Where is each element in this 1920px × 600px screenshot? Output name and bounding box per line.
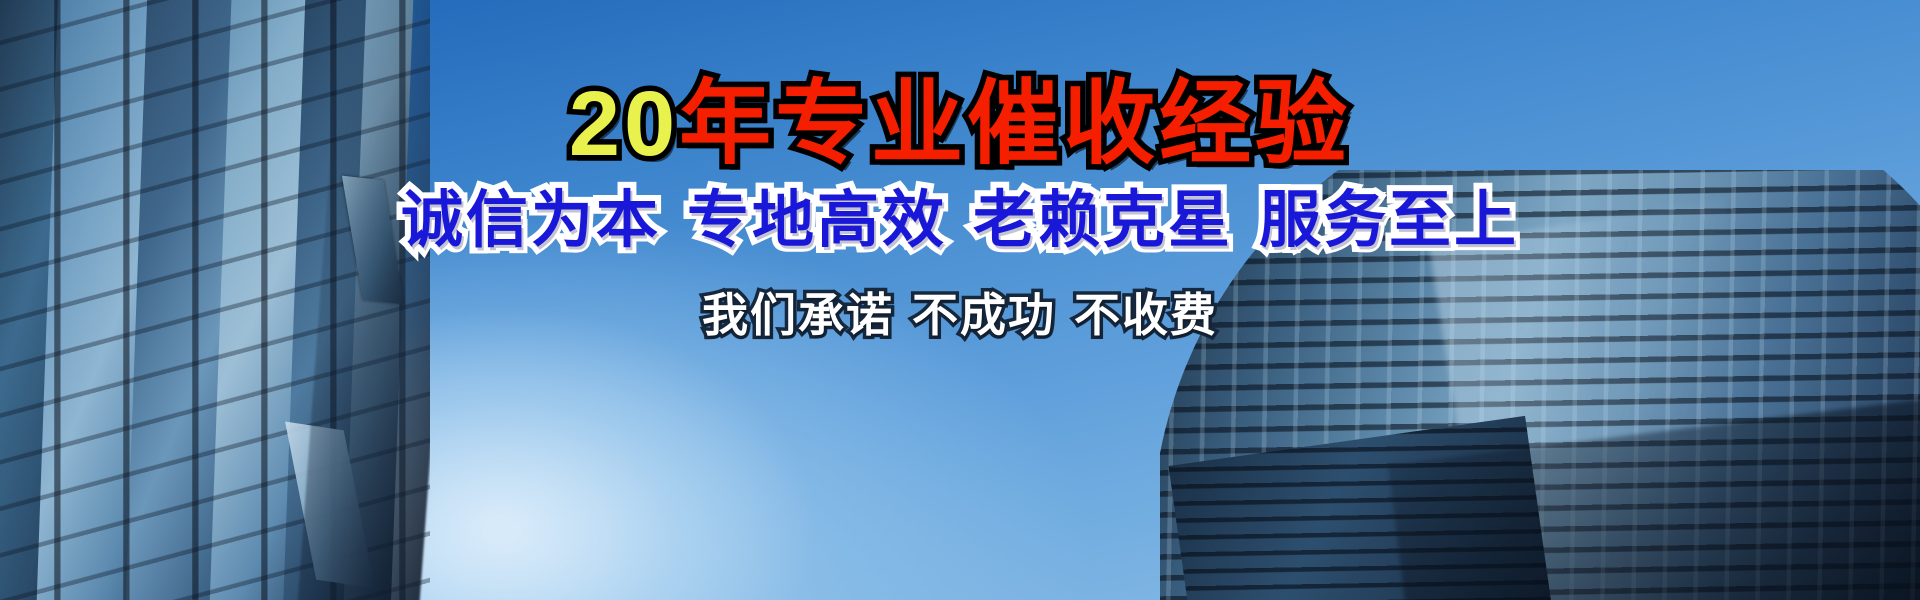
headline: 20年专业催收经验 (569, 78, 1351, 170)
headline-years-text: 年专业催收经验 (679, 73, 1351, 175)
headline-years-number: 20 (569, 73, 679, 175)
tagline-segment-2: 专地高效 (687, 186, 947, 255)
tagline-segment-4: 服务至上 (1259, 186, 1519, 255)
tagline-segment-3: 老赖克星 (973, 186, 1233, 255)
promise-segment-1: 我们承诺 (702, 289, 894, 341)
promise-segment-3: 不收费 (1074, 289, 1218, 341)
promise-segment-2: 不成功 (912, 289, 1056, 341)
promo-banner: 20年专业催收经验 诚信为本专地高效老赖克星服务至上 我们承诺不成功不收费 (0, 0, 1920, 600)
banner-text-layer: 20年专业催收经验 诚信为本专地高效老赖克星服务至上 我们承诺不成功不收费 (0, 0, 1920, 600)
tagline: 诚信为本专地高效老赖克星服务至上 (401, 190, 1519, 252)
tagline-segment-1: 诚信为本 (401, 186, 661, 255)
promise-line: 我们承诺不成功不收费 (702, 292, 1218, 338)
